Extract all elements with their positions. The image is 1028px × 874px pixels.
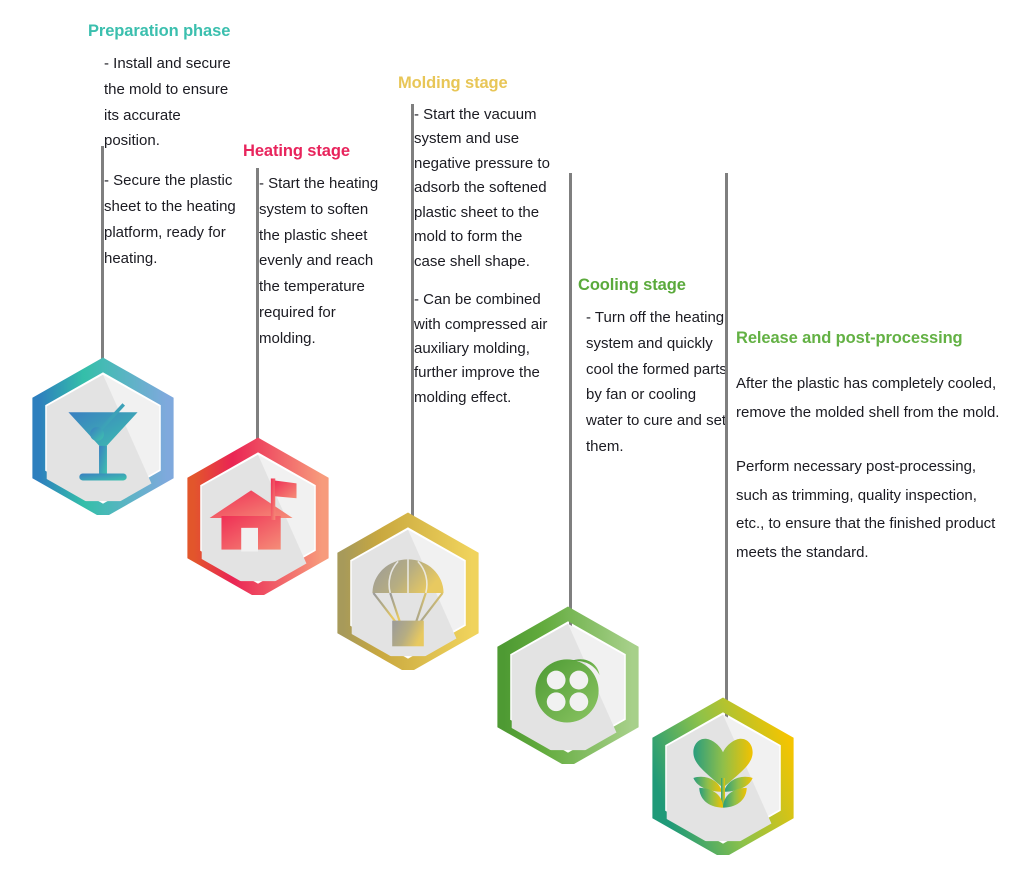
stage-paragraph: - Turn off the heating system and quickl… [586, 305, 736, 460]
hex-badge-molding[interactable] [329, 512, 487, 670]
stage-paragraph: After the plastic has completely cooled,… [736, 370, 1008, 427]
stage-title-heating: Heating stage [243, 142, 393, 161]
infographic-canvas: Preparation phase - Install and secure t… [0, 0, 1028, 874]
stage-paragraph: - Start the vacuum system and use negati… [414, 103, 558, 274]
stage-title-cooling: Cooling stage [578, 276, 738, 295]
stage-rule-cooling [569, 173, 572, 638]
hex-badge-preparation[interactable] [24, 357, 182, 515]
stage-body-preparation: - Install and secure the mold to ensure … [88, 51, 238, 271]
stage-molding: Molding stage - Start the vacuum system … [398, 74, 558, 410]
stage-paragraph: - Install and secure the mold to ensure … [104, 51, 238, 154]
stage-release: Release and post-processing After the pl… [736, 329, 1016, 567]
hex-badge-release[interactable] [644, 697, 802, 855]
hex-badge-heating[interactable] [179, 437, 337, 595]
stage-body-release: After the plastic has completely cooled,… [736, 370, 1008, 567]
stage-paragraph: Perform necessary post-processing, such … [736, 453, 1008, 567]
stage-title-molding: Molding stage [398, 74, 558, 93]
stage-paragraph: - Can be combined with compressed air au… [414, 288, 558, 410]
stage-paragraph: - Secure the plastic sheet to the heatin… [104, 168, 238, 271]
stage-body-heating: - Start the heating system to soften the… [243, 171, 393, 352]
stage-body-cooling: - Turn off the heating system and quickl… [578, 305, 736, 460]
stage-heating: Heating stage - Start the heating system… [243, 142, 393, 352]
hex-badge-cooling[interactable] [489, 606, 647, 764]
stage-paragraph: - Start the heating system to soften the… [259, 171, 393, 352]
stage-cooling: Cooling stage - Turn off the heating sys… [578, 276, 738, 460]
stage-title-preparation: Preparation phase [88, 22, 238, 41]
stage-title-release: Release and post-processing [736, 329, 1016, 348]
stage-preparation: Preparation phase - Install and secure t… [88, 22, 238, 271]
stage-rule-release [725, 173, 728, 723]
stage-body-molding: - Start the vacuum system and use negati… [398, 103, 558, 410]
